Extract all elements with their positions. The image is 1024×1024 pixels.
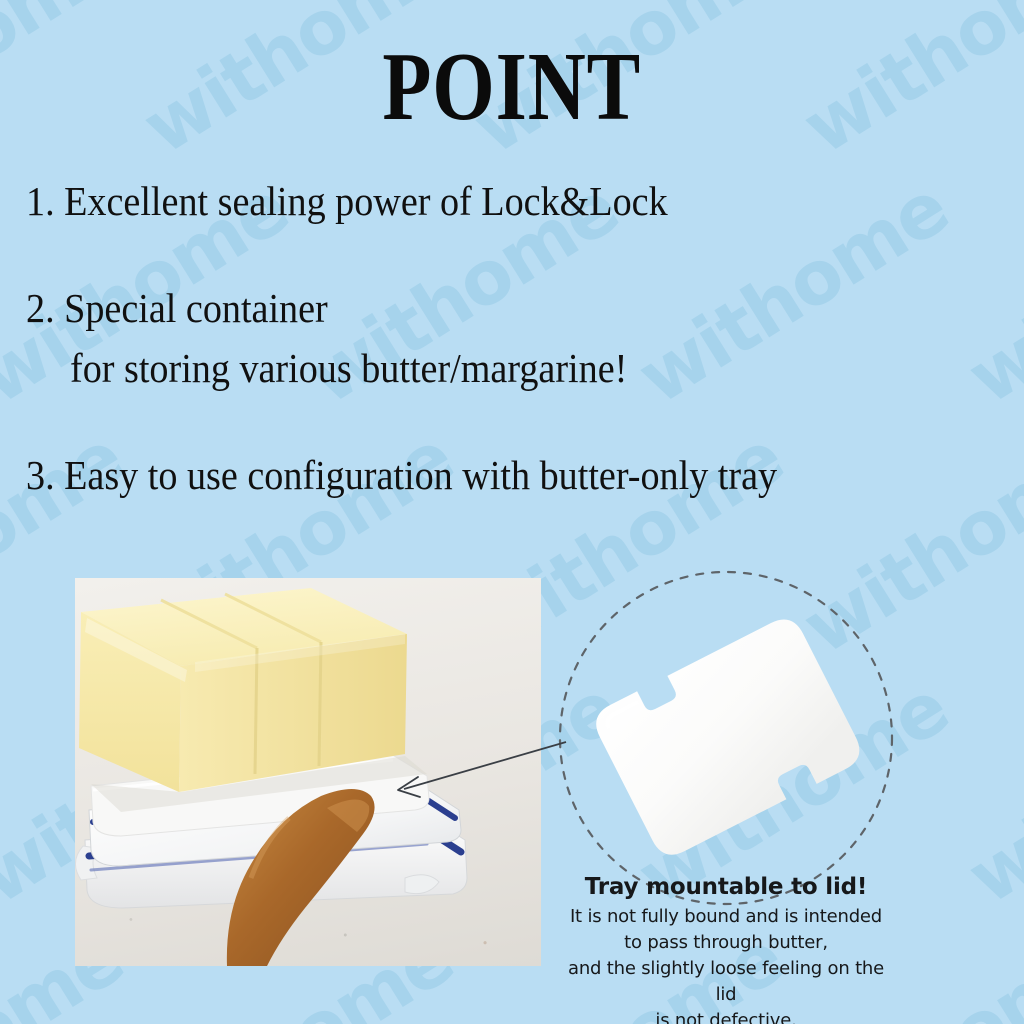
list-item-point-1: 1. Excellent sealing power of Lock&Lock — [26, 172, 1016, 232]
caption-line-3: and the slightly loose feeling on the li… — [556, 956, 896, 1008]
point-2-line-1: 2. Special container — [26, 279, 328, 339]
infographic-page: withomewithomewithomewithomewithomewitho… — [0, 0, 1024, 1024]
points-list: 1. Excellent sealing power of Lock&Lock … — [26, 172, 1016, 505]
page-title-text: POINT — [383, 38, 642, 136]
tray-callout-circle — [556, 568, 896, 908]
watermark-text: withome — [953, 665, 1024, 921]
point-3-line-1: 3. Easy to use configuration with butter… — [26, 446, 777, 506]
butter-tray-shape — [589, 612, 867, 862]
callout-arrow — [380, 725, 580, 805]
caption-line-4: is not defective. — [556, 1008, 896, 1024]
point-1-line-1: 1. Excellent sealing power of Lock&Lock — [26, 172, 668, 232]
butter-block — [79, 588, 427, 812]
caption-body: It is not fully bound and is intended to… — [556, 904, 896, 1024]
caption-line-2: to pass through butter, — [556, 930, 896, 956]
list-item-point-2: 2. Special container for storing various… — [26, 279, 1016, 399]
point-2-line-2: for storing various butter/margarine! — [70, 339, 627, 399]
caption-title: Tray mountable to lid! — [556, 874, 896, 901]
page-title: POINT — [0, 38, 1024, 136]
tray-caption: Tray mountable to lid! It is not fully b… — [556, 874, 896, 1024]
caption-line-1: It is not fully bound and is intended — [556, 904, 896, 930]
list-item-point-3: 3. Easy to use configuration with butter… — [26, 446, 1016, 506]
